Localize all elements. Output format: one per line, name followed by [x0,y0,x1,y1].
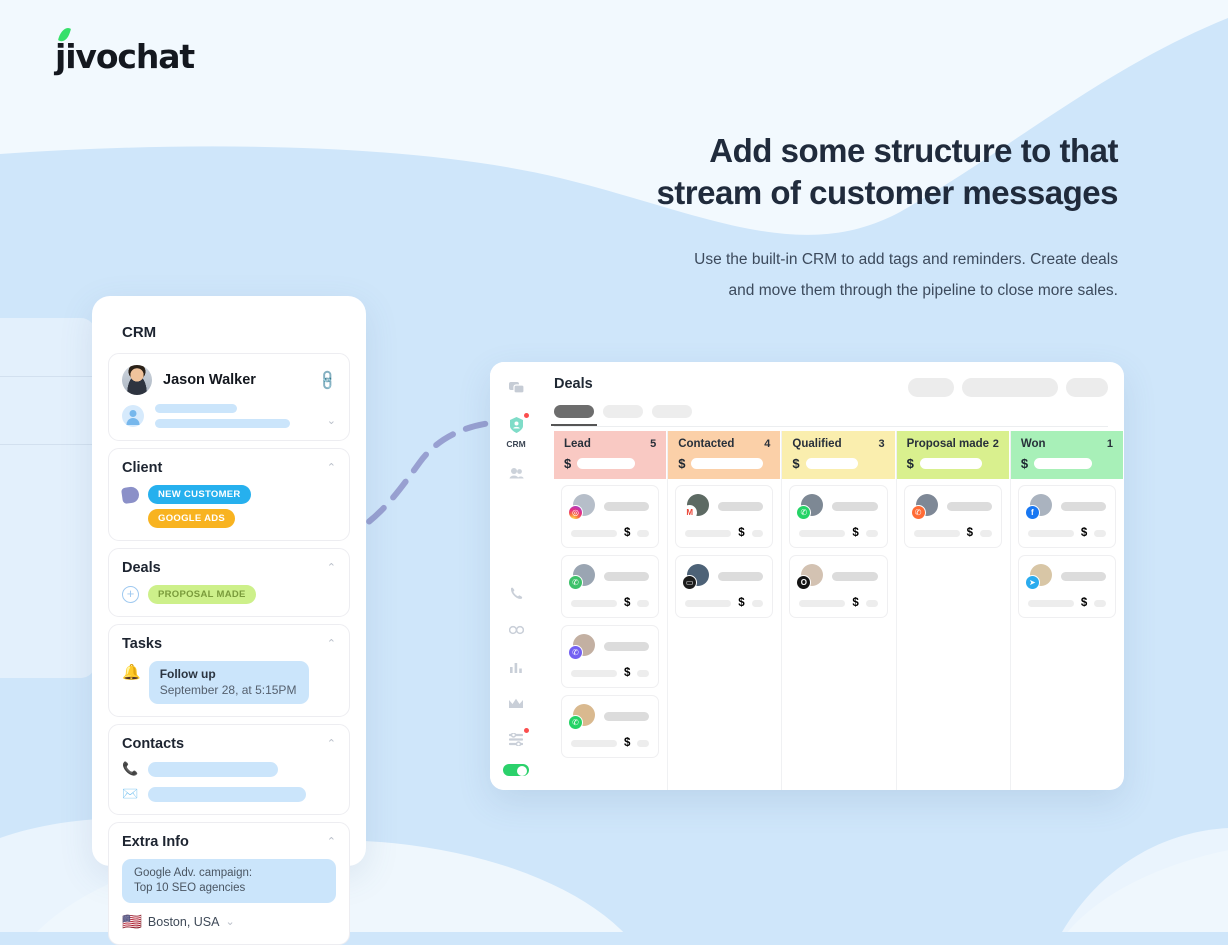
deal-card-top: ✆ [914,494,992,518]
crm-user-placeholder-bars [155,404,316,428]
hero-subtitle: Use the built-in CRM to add tags and rem… [498,244,1118,306]
tag-new-customer[interactable]: NEW CUSTOMER [148,485,251,504]
deal-card[interactable]: f$ [1018,485,1116,548]
currency-symbol: $ [907,456,914,471]
placeholder-bar [604,502,649,511]
tag-icon [121,486,140,504]
plus-circle-icon[interactable]: + [122,586,139,603]
placeholder-bar [148,787,306,802]
phone-icon[interactable] [502,581,530,605]
placeholder-bar [155,419,290,428]
page-title: Add some structure to that stream of cus… [498,130,1118,214]
deal-avatar: O [799,564,823,588]
placeholder-bar [920,458,982,469]
currency-symbol: $ [624,527,630,539]
placeholder-bar [718,572,763,581]
tag-proposal-made[interactable]: PROPOSAL MADE [148,585,256,604]
deal-avatar: M [685,494,709,518]
person-icon [122,405,144,427]
deal-card[interactable]: ✆$ [789,485,887,548]
placeholder-bar [752,530,764,537]
section-title: Extra Info [122,834,189,850]
deal-card[interactable]: O$ [789,555,887,618]
headline-line-2: stream of customer messages [656,174,1118,211]
placeholder-bar [832,502,877,511]
task-bubble: Follow up September 28, at 5:15PM [149,661,310,704]
placeholder-bar [604,712,649,721]
currency-symbol: $ [564,456,571,471]
placeholder-bar [685,530,731,537]
column-header: Qualified3$ [782,431,894,479]
contact-row-phone[interactable]: 📞 [122,761,336,777]
note-line-2: Top 10 SEO agencies [134,882,245,894]
section-title: Tasks [122,636,162,652]
extra-info-note: Google Adv. campaign: Top 10 SEO agencie… [122,859,336,903]
crm-user-row: Jason Walker 🔗 [122,365,336,395]
deal-avatar: ✆ [799,494,823,518]
pipeline-column: Lead5$◎$✆$✆$✆$ [554,431,668,790]
crown-icon[interactable] [502,691,530,715]
deal-card-bottom: $ [914,527,992,539]
column-sum: $ [907,456,999,471]
placeholder-bar [752,600,764,607]
online-toggle[interactable] [503,764,529,776]
deal-card[interactable]: ✆$ [561,555,659,618]
crm-section-client: Client ⌃ NEW CUSTOMER GOOGLE ADS [108,448,350,541]
viber-orange-channel-icon: ✆ [911,505,926,520]
column-name: Proposal made [907,438,989,450]
column-count: 2 [993,438,999,450]
section-header[interactable]: Contacts ⌃ [122,736,336,752]
column-cards: ✆$ [897,479,1009,548]
column-name: Lead [564,438,591,450]
deal-card[interactable]: ▭$ [675,555,773,618]
tag-google-ads[interactable]: GOOGLE ADS [148,509,235,528]
placeholder-bar [866,600,878,607]
location-row[interactable]: 🇺🇸 Boston, USA ⌄ [122,912,336,932]
deal-card-top: M [685,494,763,518]
deal-avatar: ➤ [1028,564,1052,588]
deal-card-bottom: $ [685,597,763,609]
chats-icon[interactable] [502,376,530,400]
crm-icon-label: CRM [506,439,525,449]
column-name: Qualified [792,438,841,450]
app-sidebar: CRM [490,362,542,790]
chevron-up-icon[interactable]: ⌃ [327,739,336,750]
deal-avatar: ✆ [571,564,595,588]
deal-avatar: ▭ [685,564,709,588]
placeholder-bar [866,530,878,537]
task-title: Follow up [160,667,297,681]
currency-symbol: $ [624,597,630,609]
section-header[interactable]: Deals ⌃ [122,560,336,576]
deal-card-bottom: $ [685,527,763,539]
section-title: Contacts [122,736,184,752]
column-count: 1 [1107,438,1113,450]
phone-icon: 📞 [122,761,138,777]
deal-card[interactable]: M$ [675,485,773,548]
deal-card-top: ➤ [1028,564,1106,588]
placeholder-bar [914,530,960,537]
chevron-down-icon[interactable]: ⌄ [327,414,336,427]
deal-card-top: ✆ [571,634,649,658]
deal-card-bottom: $ [1028,527,1106,539]
placeholder-bar [832,572,877,581]
chevron-up-icon[interactable]: ⌃ [327,563,336,574]
tag-list: NEW CUSTOMER GOOGLE ADS [148,485,251,528]
deal-card[interactable]: ✆$ [561,625,659,688]
crm-user-name: Jason Walker [163,372,308,388]
deal-card-bottom: $ [1028,597,1106,609]
chat-channel-icon: ▭ [682,575,697,590]
placeholder-bar [571,600,617,607]
chevron-up-icon[interactable]: ⌃ [327,837,336,848]
deals-board-window: CRM Deals [490,362,1124,790]
column-header-top: Won1 [1021,438,1113,450]
deal-card-top: ✆ [571,564,649,588]
deal-avatar: ✆ [571,634,595,658]
notification-dot [524,728,529,733]
column-header-top: Qualified3 [792,438,884,450]
placeholder-bar [1061,572,1106,581]
deal-card-bottom: $ [571,527,649,539]
chevron-down-icon[interactable]: ⌄ [226,917,235,928]
placeholder-bar [1094,530,1106,537]
currency-symbol: $ [1081,597,1087,609]
column-cards: ◎$✆$✆$✆$ [554,479,666,758]
currency-symbol: $ [624,737,630,749]
placeholder-bar [980,530,992,537]
placeholder-bar [806,458,858,469]
crm-section-contacts: Contacts ⌃ 📞 ✉️ [108,724,350,815]
placeholder-bar [799,530,845,537]
placeholder-bar [604,572,649,581]
location-label: Boston, USA [148,915,220,929]
placeholder-bar [1061,502,1106,511]
currency-symbol: $ [678,456,685,471]
pipeline-columns: Lead5$◎$✆$✆$✆$Contacted4$M$▭$Qualified3$… [542,427,1124,790]
jivochat-logo[interactable]: jivochat [55,40,194,73]
column-sum: $ [792,456,884,471]
column-cards: f$➤$ [1011,479,1123,618]
crm-section-extra-info: Extra Info ⌃ Google Adv. campaign: Top 1… [108,822,350,945]
crm-user-subrow: ⌄ [122,404,336,428]
avatar [122,365,152,395]
deal-avatar: ✆ [571,704,595,728]
action-pill[interactable] [908,378,954,397]
currency-symbol: $ [967,527,973,539]
ghost-divider [0,444,95,445]
visitors-icon[interactable] [502,618,530,642]
column-header: Contacted4$ [668,431,780,479]
currency-symbol: $ [738,597,744,609]
chevron-up-icon[interactable]: ⌃ [327,639,336,650]
column-header-top: Lead5 [564,438,656,450]
tab-secondary[interactable] [603,405,643,418]
placeholder-bar [604,642,649,651]
placeholder-bar [148,762,278,777]
action-pill[interactable] [1066,378,1108,397]
currency-symbol: $ [1081,527,1087,539]
contact-row-email[interactable]: ✉️ [122,786,336,802]
deal-card-bottom: $ [571,667,649,679]
placeholder-bar [947,502,992,511]
deal-card-bottom: $ [571,597,649,609]
odnoklassniki-channel-icon: O [796,575,811,590]
envelope-icon: ✉️ [122,786,138,802]
subhead-line-1: Use the built-in CRM to add tags and rem… [694,251,1118,268]
us-flag-icon: 🇺🇸 [122,912,142,932]
section-header[interactable]: Extra Info ⌃ [122,834,336,850]
column-sum: $ [678,456,770,471]
pipeline-column: Contacted4$M$▭$ [668,431,782,790]
crm-icon[interactable] [502,412,530,436]
placeholder-bar [571,530,617,537]
placeholder-bar [155,404,237,413]
link-icon[interactable]: 🔗 [315,368,339,392]
section-title: Client [122,460,162,476]
ghost-divider [0,376,95,377]
whatsapp-channel-icon: ✆ [796,505,811,520]
gmail-channel-icon: M [682,505,697,520]
board-tabs [554,405,1108,418]
currency-symbol: $ [852,597,858,609]
crm-user-card[interactable]: Jason Walker 🔗 ⌄ [108,353,350,441]
placeholder-bar [685,600,731,607]
column-header-top: Proposal made2 [907,438,999,450]
hero-text: Add some structure to that stream of cus… [498,130,1118,306]
column-header-top: Contacted4 [678,438,770,450]
note-line-1: Google Adv. campaign: [134,867,252,879]
currency-symbol: $ [624,667,630,679]
placeholder-bar [718,502,763,511]
deal-card-top: O [799,564,877,588]
deal-avatar: ✆ [914,494,938,518]
currency-symbol: $ [738,527,744,539]
deal-card-bottom: $ [799,527,877,539]
crm-panel: CRM Jason Walker 🔗 ⌄ Client ⌃ NEW CUSTOM… [92,296,366,866]
stats-icon[interactable] [502,654,530,678]
column-cards: ✆$O$ [782,479,894,618]
deal-avatar: f [1028,494,1052,518]
client-tags-row: NEW CUSTOMER GOOGLE ADS [122,485,336,528]
placeholder-bar [637,530,649,537]
pipeline-column: Won1$f$➤$ [1011,431,1124,790]
column-count: 5 [650,438,656,450]
column-header: Proposal made2$ [897,431,1009,479]
deal-card[interactable]: ➤$ [1018,555,1116,618]
section-header[interactable]: Client ⌃ [122,460,336,476]
column-name: Won [1021,438,1046,450]
placeholder-bar [637,740,649,747]
placeholder-bar [1034,458,1092,469]
task-date: September 28, at 5:15PM [160,683,297,697]
settings-icon[interactable] [502,727,530,751]
placeholder-bar [799,600,845,607]
placeholder-bar [1094,600,1106,607]
pipeline-column: Qualified3$✆$O$ [782,431,896,790]
contacts-icon[interactable] [502,461,530,485]
placeholder-bar [577,458,635,469]
tag-list: PROPOSAL MADE [148,585,256,604]
board-actions [908,378,1108,397]
viber-green-channel-icon: ✆ [568,575,583,590]
section-title: Deals [122,560,161,576]
currency-symbol: $ [1021,456,1028,471]
deal-avatar: ◎ [571,494,595,518]
tab-pipeline[interactable] [554,405,594,418]
placeholder-bar [637,670,649,677]
placeholder-bar [571,670,617,677]
chevron-up-icon[interactable]: ⌃ [327,463,336,474]
placeholder-bar [571,740,617,747]
placeholder-bar [1028,530,1074,537]
placeholder-bar [691,458,763,469]
deal-card[interactable]: ✆$ [904,485,1002,548]
pipeline-column: Proposal made2$✆$ [897,431,1011,790]
column-count: 3 [878,438,884,450]
deals-tags-row: + PROPOSAL MADE [122,585,336,604]
crm-panel-title: CRM [122,324,350,341]
headline-line-1: Add some structure to that [709,132,1118,169]
subhead-line-2: and move them through the pipeline to cl… [729,282,1118,299]
deal-card-top: ✆ [799,494,877,518]
board-header: Deals [542,362,1124,418]
deal-card[interactable]: ◎$ [561,485,659,548]
deal-card-top: ▭ [685,564,763,588]
tab-tertiary[interactable] [652,405,692,418]
placeholder-bar [1028,600,1074,607]
column-header: Won1$ [1011,431,1123,479]
task-row[interactable]: 🔔 Follow up September 28, at 5:15PM [122,661,336,704]
bell-icon: 🔔 [122,665,141,680]
deal-card-bottom: $ [571,737,649,749]
deal-card-top: ✆ [571,704,649,728]
deal-card-bottom: $ [799,597,877,609]
background-chat-panel: ••• ⤓ [0,318,95,678]
facebook-channel-icon: f [1025,505,1040,520]
crm-section-tasks: Tasks ⌃ 🔔 Follow up September 28, at 5:1… [108,624,350,717]
currency-symbol: $ [792,456,799,471]
deal-card-top: ◎ [571,494,649,518]
action-pill[interactable] [962,378,1058,397]
deals-board-main: Deals Lead5$◎$✆$✆$✆$Contacted4$M$▭$Quali… [542,362,1124,790]
column-name: Contacted [678,438,734,450]
column-sum: $ [564,456,656,471]
section-header[interactable]: Tasks ⌃ [122,636,336,652]
logo-wordmark: jivochat [55,40,194,73]
column-sum: $ [1021,456,1113,471]
telegram-channel-icon: ➤ [1025,575,1040,590]
deal-card-top: f [1028,494,1106,518]
currency-symbol: $ [852,527,858,539]
deal-card[interactable]: ✆$ [561,695,659,758]
whatsapp-channel-icon: ✆ [568,715,583,730]
viber-channel-icon: ✆ [568,645,583,660]
column-count: 4 [764,438,770,450]
crm-section-deals: Deals ⌃ + PROPOSAL MADE [108,548,350,617]
column-cards: M$▭$ [668,479,780,618]
notification-dot [524,413,529,418]
placeholder-bar [637,600,649,607]
column-header: Lead5$ [554,431,666,479]
instagram-channel-icon: ◎ [568,505,583,520]
